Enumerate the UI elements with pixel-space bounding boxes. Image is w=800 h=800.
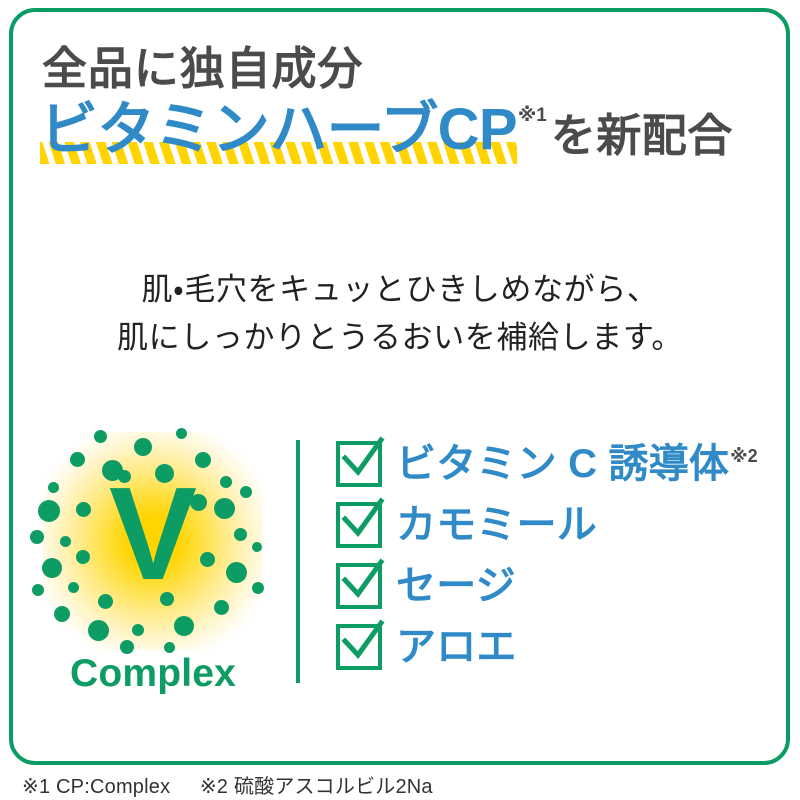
list-item-text: セージ bbox=[396, 564, 516, 608]
highlighted-term: ビタミンハーブCP bbox=[40, 100, 517, 161]
headline-product-name: ビタミンハーブCP bbox=[40, 100, 517, 161]
logo-caption: Complex bbox=[24, 652, 282, 696]
list-item[interactable]: カモミール bbox=[336, 495, 792, 554]
headline-line-1: 全品に独自成分 bbox=[0, 44, 800, 94]
logo-letter-v: V bbox=[24, 468, 282, 600]
body-copy: 肌・毛穴をキュッとひきしめながら、 肌にしっかりとうるおいを補給します。 bbox=[0, 266, 800, 362]
list-item-footnote-marker: ※2 bbox=[730, 446, 758, 466]
headline-footnote-marker: ※1 bbox=[518, 106, 547, 126]
list-item-text: カモミール bbox=[396, 503, 597, 547]
list-item-label: カモミール bbox=[396, 505, 598, 545]
list-item[interactable]: セージ bbox=[336, 556, 792, 615]
list-item-label: ビタミン C 誘導体※2 bbox=[396, 444, 758, 484]
checkbox[interactable] bbox=[336, 563, 382, 609]
list-item-text: アロエ bbox=[396, 625, 517, 669]
vertical-divider bbox=[296, 440, 300, 683]
list-item-label: アロエ bbox=[396, 627, 518, 667]
body-copy-line-2: 肌にしっかりとうるおいを補給します。 bbox=[0, 314, 800, 362]
list-item-label: セージ bbox=[396, 566, 517, 606]
checkmark-icon bbox=[337, 495, 387, 545]
footnote-2: ※2 硫酸アスコルビル2Na bbox=[200, 776, 433, 798]
list-item[interactable]: ビタミン C 誘導体※2 bbox=[336, 434, 792, 493]
v-complex-logo: V Complex bbox=[24, 424, 282, 714]
footnotes: ※1 CP:Complex ※2 硫酸アスコルビル2Na bbox=[22, 777, 433, 797]
ingredient-checklist: ビタミン C 誘導体※2 カモミール セージ bbox=[336, 434, 792, 678]
ingredients-section: V Complex ビタミン C 誘導体※2 カモミール bbox=[0, 424, 800, 714]
logo-burst: V bbox=[24, 424, 282, 656]
checkmark-icon bbox=[337, 617, 387, 667]
checkbox[interactable] bbox=[336, 441, 382, 487]
checkmark-icon bbox=[337, 556, 387, 606]
body-copy-line-1: 肌・毛穴をキュッとひきしめながら、 bbox=[0, 266, 800, 314]
headline-line-2: ビタミンハーブCP ※1 を新配合 bbox=[0, 100, 800, 161]
list-item-text: ビタミン C 誘導体 bbox=[396, 442, 729, 486]
checkmark-icon bbox=[337, 434, 387, 484]
footnote-1: ※1 CP:Complex bbox=[22, 776, 170, 798]
checkbox[interactable] bbox=[336, 502, 382, 548]
headline-block: 全品に独自成分 ビタミンハーブCP ※1 を新配合 bbox=[0, 44, 800, 161]
headline-tail: を新配合 bbox=[551, 112, 733, 161]
checkbox[interactable] bbox=[336, 624, 382, 670]
list-item[interactable]: アロエ bbox=[336, 617, 792, 676]
